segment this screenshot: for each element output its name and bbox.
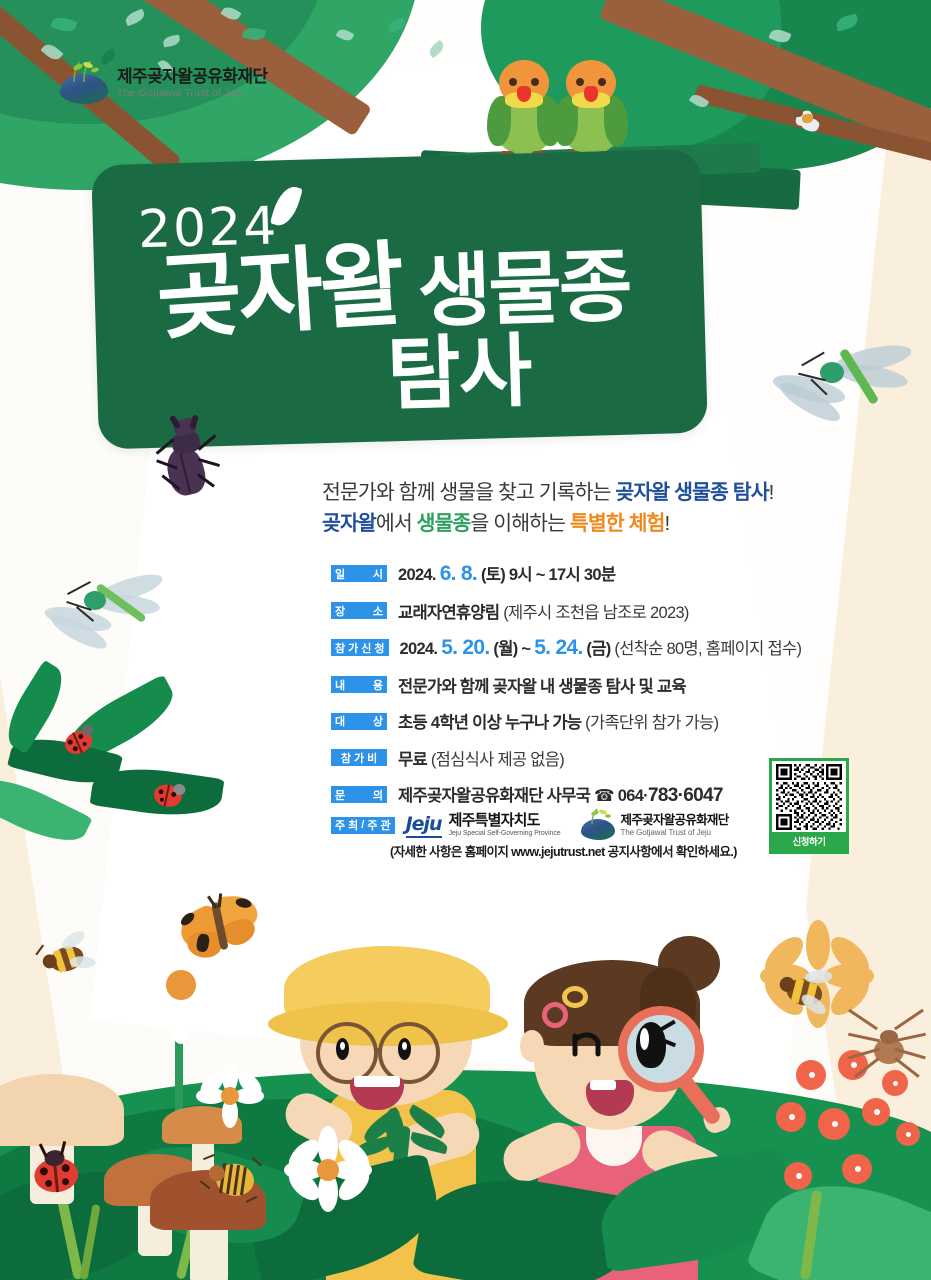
- info-row-value: 무료 (점심식사 제공 없음): [398, 746, 564, 770]
- jeju-wordmark-icon: Jeju: [406, 813, 442, 838]
- logo-name-ko: 제주곶자왈공유화재단: [117, 67, 267, 87]
- label-char: 일: [335, 566, 345, 582]
- lovebird-right-icon: [552, 58, 630, 163]
- title-word-gotjawal: 곶자왈: [154, 239, 404, 346]
- footnote-text: (자세한 사항은 홈페이지 www.jejutrust.net 공지사항에서 확…: [390, 841, 737, 860]
- dragonfly-right-icon: [778, 338, 918, 446]
- label-char: 참: [335, 640, 345, 656]
- label-char: 가: [348, 640, 358, 656]
- info-value-part: 전문가와 함께 곶자왈 내 생물종 탐사 및 교육: [398, 678, 686, 696]
- label-char: 주: [335, 817, 345, 833]
- gotjawal-trust-logo: 제주곶자왈공유화재단 The Gotjawal Trust of Jeju: [581, 810, 729, 840]
- info-value-part: 5. 24.: [534, 636, 582, 659]
- label-char: 비: [367, 750, 377, 766]
- info-row: 참가신청2024. 5. 20. (월) ~ 5. 24. (금) (선착순 8…: [331, 635, 851, 660]
- subtitle-line-2: 곶자왈에서 생물종을 이해하는 특별한 체험!: [322, 508, 773, 539]
- info-value-part: (월) ~: [490, 640, 535, 658]
- jeju-name-en: Jeju Special Self-Governing Province: [449, 830, 561, 837]
- info-row-value: 제주곶자왈공유화재단 사무국 ☎ 064·783·6047: [398, 782, 723, 807]
- info-value-part: 6. 8.: [440, 562, 477, 585]
- trust-name-ko: 제주곶자왈공유화재단: [621, 813, 729, 827]
- info-value-part: (점심식사 제공 없음): [427, 751, 564, 769]
- dragonfly-left-icon: [48, 565, 176, 663]
- label-char: 내: [335, 677, 345, 693]
- title-word-species: 생물종: [417, 247, 631, 333]
- info-row-label: 참가신청: [331, 639, 389, 656]
- info-row-value: 2024. 6. 8. (토) 9시 ~ 17시 30분: [398, 561, 615, 586]
- info-row-label: 일시: [331, 565, 387, 582]
- qr-code-icon[interactable]: [775, 764, 843, 830]
- info-row: 내용전문가와 함께 곶자왈 내 생물종 탐사 및 교육: [331, 673, 851, 697]
- gotjawal-globe-sprout-logo-icon: [60, 62, 108, 104]
- label-char: 최: [348, 817, 358, 833]
- label-char: 대: [335, 713, 345, 729]
- jeju-name-ko: 제주특별자치도: [449, 813, 561, 830]
- subtitle-line1-plain-a: 전문가와 함께 생물을 찾고 기록하는: [322, 481, 615, 504]
- info-value-part: 교래자연휴양림: [398, 604, 499, 622]
- subtitle-line2-plain-a: 에서: [376, 512, 417, 535]
- subtitle-line-1: 전문가와 함께 생물을 찾고 기록하는 곶자왈 생물종 탐사!: [322, 477, 773, 508]
- info-value-part: (선착순 80명, 홈페이지 접수): [611, 640, 802, 658]
- gotjawal-globe-icon: [581, 810, 615, 840]
- label-char: 소: [373, 603, 383, 619]
- jeju-province-logo: Jeju 제주특별자치도 Jeju Special Self-Governing…: [406, 813, 561, 838]
- info-row-label: 문의: [331, 786, 387, 803]
- stag-beetle-icon: [150, 415, 222, 501]
- subtitle-line2-plain-b: 을 이해하는: [471, 512, 570, 535]
- label-char: 문: [335, 787, 345, 803]
- subtitle-line2-plain-c: !: [665, 512, 670, 535]
- subtitle-line2-green: 생물종: [417, 512, 471, 535]
- organizer-row: 주최/주관 Jeju 제주특별자치도 Jeju Special Self-Gov…: [331, 806, 729, 840]
- info-row: 대상초등 4학년 이상 누구나 가능 (가족단위 참가 가능): [331, 709, 851, 733]
- label-char: 의: [373, 787, 383, 803]
- poster-root: 제주곶자왈공유화재단 The Gotjawal Trust of Jeju 20…: [0, 0, 931, 1280]
- trust-name-en: The Gotjawal Trust of Jeju: [621, 828, 729, 837]
- sprout-icon: [66, 60, 102, 82]
- qr-apply-box[interactable]: 신청하기: [769, 758, 849, 854]
- info-value-part: 초등 4학년 이상 누구나 가능: [398, 714, 581, 732]
- leaf-accent-icon: [270, 183, 303, 230]
- subtitle-line1-strong: 곶자왈 생물종 탐사: [615, 481, 768, 504]
- info-row-label: 대상: [331, 713, 387, 730]
- logo-name-en: The Gotjawal Trust of Jeju: [117, 87, 267, 99]
- info-value-part: 2024.: [398, 566, 440, 584]
- moth-icon: [792, 108, 826, 134]
- info-value-part: 783·6047: [648, 785, 723, 806]
- subtitle-line2-navy: 곶자왈: [322, 512, 376, 535]
- title-line-2: 탐사: [386, 331, 531, 415]
- label-char: 주: [367, 817, 377, 833]
- label-char: 용: [373, 677, 383, 693]
- info-row: 일시2024. 6. 8. (토) 9시 ~ 17시 30분: [331, 561, 851, 586]
- label-char: 가: [354, 750, 364, 766]
- subtitle-line2-orange: 특별한 체험: [570, 512, 665, 535]
- organizer-badge: 주최/주관: [331, 817, 395, 834]
- subtitle-block: 전문가와 함께 생물을 찾고 기록하는 곶자왈 생물종 탐사! 곶자왈에서 생물…: [322, 477, 773, 539]
- foundation-logo: 제주곶자왈공유화재단 The Gotjawal Trust of Jeju: [60, 62, 267, 104]
- info-row-label: 내용: [331, 676, 387, 693]
- label-char: 청: [374, 640, 384, 656]
- label-char: 신: [361, 640, 371, 656]
- info-row: 장소교래자연휴양림 (제주시 조천읍 남조로 2023): [331, 599, 851, 623]
- info-row-label: 참가비: [331, 749, 387, 766]
- info-value-part: (제주시 조천읍 남조로 2023): [499, 604, 688, 622]
- label-char: 시: [373, 566, 383, 582]
- info-value-part: 5. 20.: [441, 636, 489, 659]
- label-char: 관: [380, 817, 390, 833]
- info-value-part: 2024.: [400, 640, 442, 658]
- subtitle-line1-plain-b: !: [769, 481, 774, 504]
- qr-apply-label[interactable]: 신청하기: [772, 832, 846, 851]
- label-char: 장: [335, 603, 345, 619]
- info-value-part: 제주곶자왈공유화재단 사무국 ☎ 064·: [398, 787, 648, 805]
- sprout-icon: [586, 808, 612, 824]
- info-row-value: 초등 4학년 이상 누구나 가능 (가족단위 참가 가능): [398, 709, 718, 733]
- info-row-label: 장소: [331, 602, 387, 619]
- label-char: 참: [341, 750, 351, 766]
- title-board: 2024 곶자왈생물종 탐사: [91, 149, 708, 450]
- info-row-value: 교래자연휴양림 (제주시 조천읍 남조로 2023): [398, 599, 689, 623]
- label-char: /: [361, 819, 364, 831]
- info-value-part: 무료: [398, 751, 427, 769]
- info-value-part: (가족단위 참가 가능): [581, 714, 718, 732]
- label-char: 상: [373, 713, 383, 729]
- info-row-value: 전문가와 함께 곶자왈 내 생물종 탐사 및 교육: [398, 673, 686, 697]
- info-row-value: 2024. 5. 20. (월) ~ 5. 24. (금) (선착순 80명, …: [400, 635, 802, 660]
- info-value-part: (토) 9시 ~ 17시 30분: [477, 566, 615, 584]
- info-value-part: (금): [583, 640, 611, 658]
- title-line-1: 곶자왈생물종: [156, 237, 631, 342]
